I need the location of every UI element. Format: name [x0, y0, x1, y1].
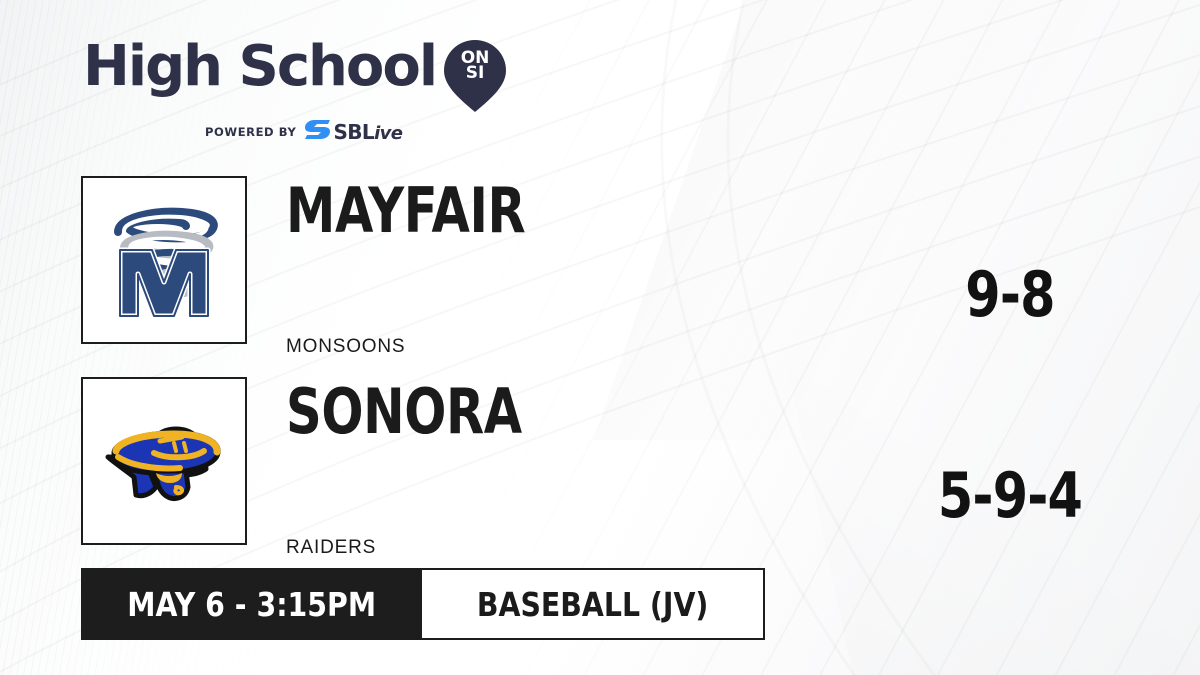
on-si-pin-text: ON SI [444, 51, 506, 81]
game-datetime-text: MAY 6 - 3:15PM [127, 585, 376, 624]
sblive-word-bold: SBL [333, 120, 374, 144]
pin-line-si: SI [444, 66, 506, 81]
sblive-bolt-icon [305, 119, 331, 145]
sonora-raiders-logo-icon [94, 391, 234, 531]
powered-by-row: POWERED BY SBLive [205, 119, 513, 145]
team-record: 5-9-4 [903, 465, 1116, 527]
brand-logo-row: High School ON SI [83, 38, 513, 112]
sblive-word-italic: ive [374, 123, 402, 144]
team-row: SONORA RAIDERS 5-9-4 [0, 377, 1200, 547]
brand-wordmark: High School [83, 38, 436, 96]
scoreboard-graphic: High School ON SI POWERED BY SBLive [0, 0, 1200, 675]
team-mascot: RAIDERS [286, 537, 376, 559]
game-sport-block: BASEBALL (JV) [422, 568, 765, 640]
team-name: SONORA [286, 381, 522, 443]
team-logo-box [81, 377, 247, 545]
sblive-wordmark: SBLive [333, 120, 402, 144]
team-row: MAYFAIR MONSOONS 9-8 [0, 176, 1200, 346]
team-name: MAYFAIR [286, 180, 525, 242]
team-record: 9-8 [903, 264, 1116, 326]
team-mascot: MONSOONS [286, 336, 405, 358]
powered-by-label: POWERED BY [205, 125, 296, 139]
game-sport-text: BASEBALL (JV) [477, 585, 709, 624]
game-info-bar: MAY 6 - 3:15PM BASEBALL (JV) [81, 568, 765, 640]
mayfair-monsoons-logo-icon [94, 190, 234, 330]
game-datetime-block: MAY 6 - 3:15PM [81, 568, 422, 640]
brand-header: High School ON SI POWERED BY SBLive [83, 38, 513, 145]
on-si-pin-icon: ON SI [444, 40, 506, 112]
team-logo-box [81, 176, 247, 344]
